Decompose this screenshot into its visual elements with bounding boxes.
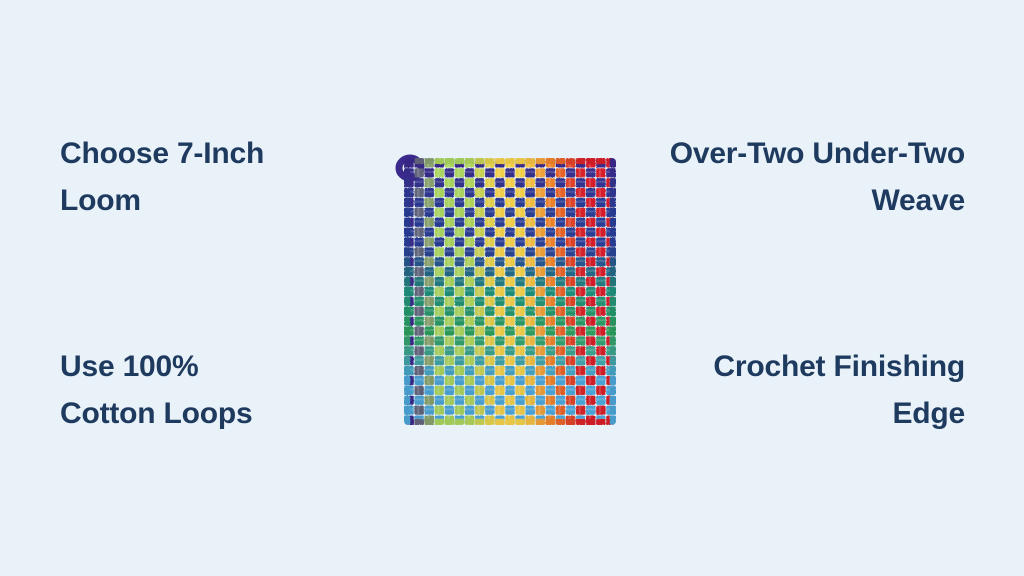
slide-canvas: Choose 7-Inch Loom Over-Two Under-Two We… — [0, 0, 1024, 576]
callout-bottom-right: Crochet Finishing Edge — [605, 343, 965, 437]
callout-top-left: Choose 7-Inch Loom — [60, 130, 360, 224]
callout-top-right: Over-Two Under-Two Weave — [605, 130, 965, 224]
callout-bottom-left: Use 100% Cotton Loops — [60, 343, 360, 437]
woven-potholder-illustration — [404, 158, 616, 425]
potholder-image — [404, 158, 616, 425]
